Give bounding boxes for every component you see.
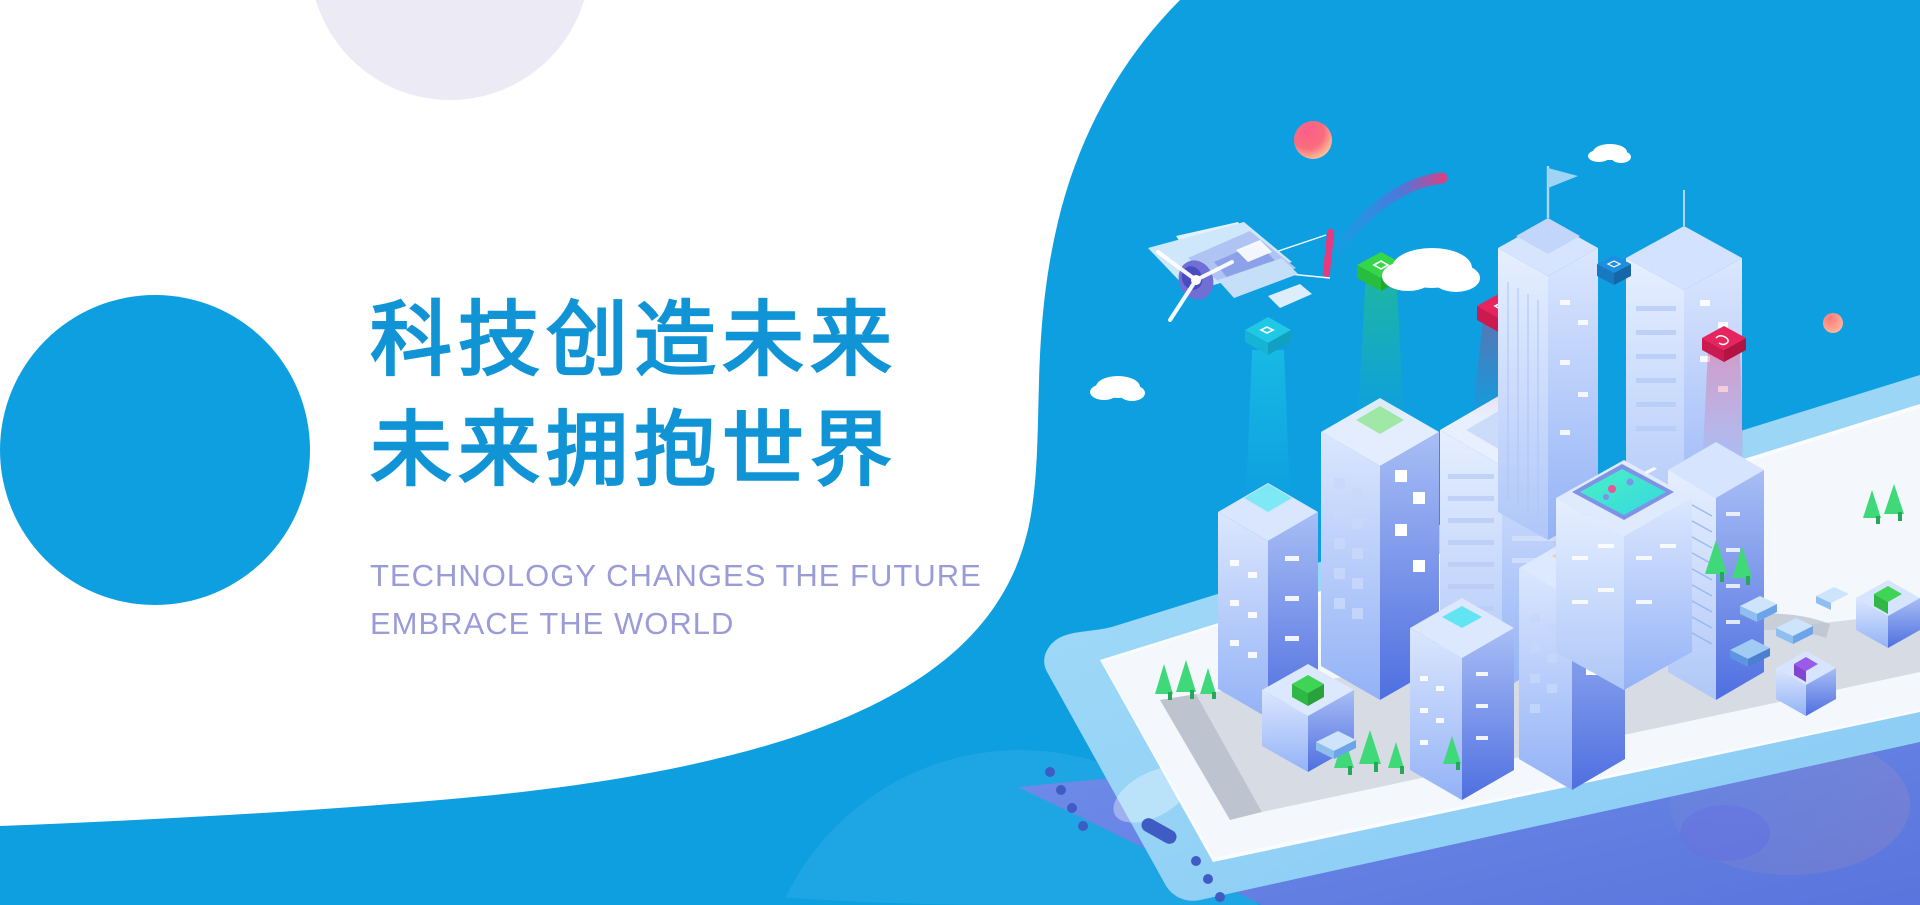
building-9-pool (1556, 460, 1692, 690)
subtitle-line-1: TECHNOLOGY CHANGES THE FUTURE (370, 552, 1050, 600)
cloud-tiny-top (1588, 144, 1631, 163)
cloud-large-right (1382, 248, 1480, 292)
headline-line-2: 未来拥抱世界 (370, 396, 1050, 506)
green-beam (1358, 270, 1404, 420)
cyan-folder-icon[interactable] (1245, 317, 1291, 355)
blue-keypad-icon[interactable] (1597, 255, 1631, 285)
airplane-trail (1332, 178, 1442, 256)
cloud-small-left (1090, 376, 1145, 401)
cyan-beam (1246, 350, 1290, 498)
propeller-airplane (1148, 178, 1442, 320)
headline-line-1: 科技创造未来 (370, 286, 1050, 396)
building-4 (1410, 598, 1514, 800)
subtitle-block: TECHNOLOGY CHANGES THE FUTURE EMBRACE TH… (370, 552, 1050, 648)
hero-banner: 科技创造未来 未来拥抱世界 TECHNOLOGY CHANGES THE FUT… (0, 0, 1920, 905)
subtitle-line-2: EMBRACE THE WORLD (370, 600, 1050, 648)
hero-text-block: 科技创造未来 未来拥抱世界 TECHNOLOGY CHANGES THE FUT… (370, 286, 1050, 648)
